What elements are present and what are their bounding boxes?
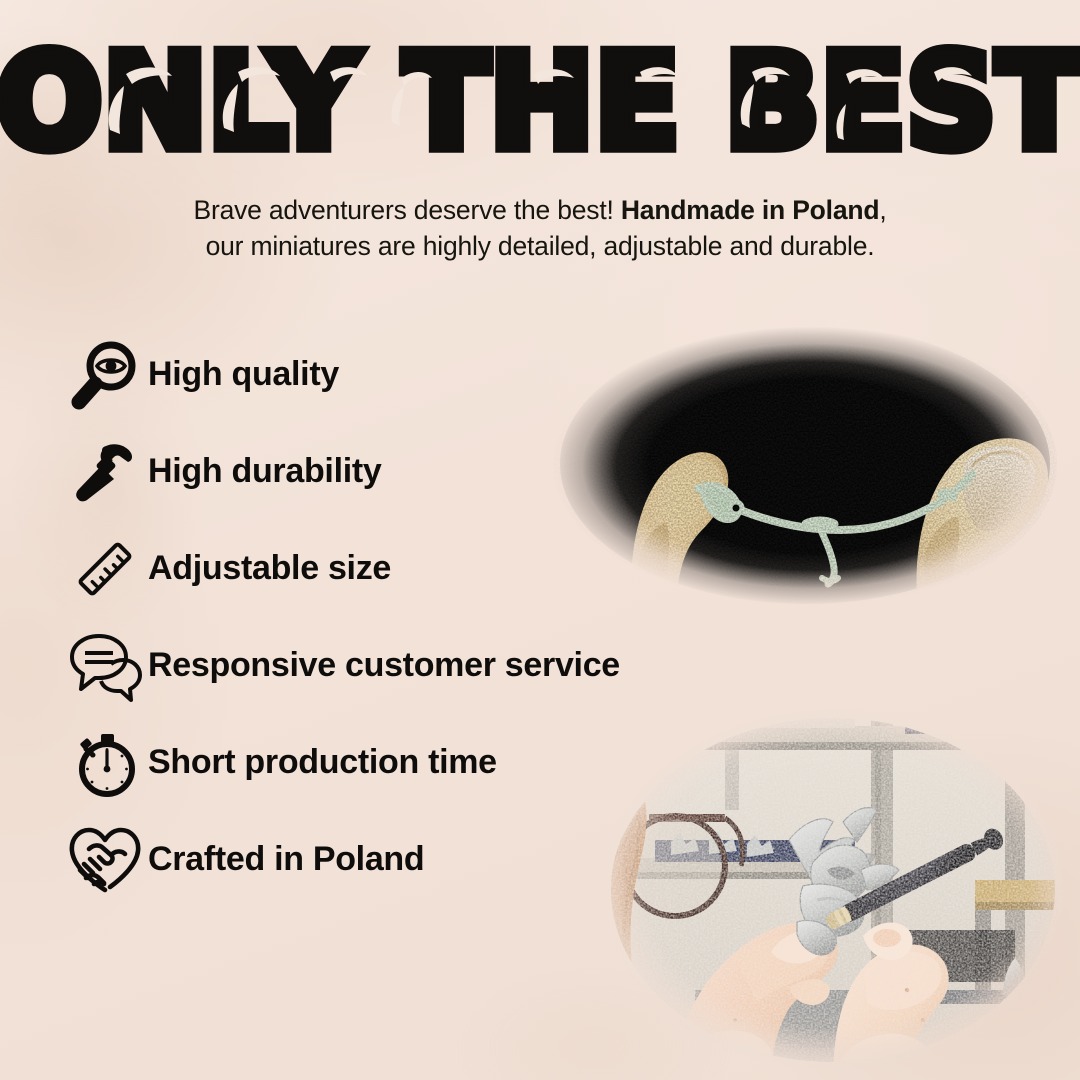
stopwatch-icon	[62, 724, 148, 802]
feature-label: Short production time	[148, 743, 497, 782]
heart-handshake-icon	[62, 821, 148, 899]
subtitle-lead-text: Brave adventurers deserve the best!	[193, 195, 620, 225]
subtitle-trailing-comma: ,	[879, 195, 886, 225]
feature-item-short-production-time: Short production time	[62, 714, 782, 811]
feature-label: Crafted in Poland	[148, 840, 424, 879]
feature-item-crafted-in-poland: Crafted in Poland	[62, 811, 782, 908]
feature-list: High quality High durability	[62, 326, 782, 908]
ruler-icon	[62, 530, 148, 608]
subtitle: Brave adventurers deserve the best! Hand…	[60, 192, 1020, 264]
feature-item-high-quality: High quality	[62, 326, 782, 423]
feature-label: Adjustable size	[148, 549, 391, 588]
subtitle-bold-text: Handmade in Poland	[621, 195, 880, 225]
subtitle-line-2: our miniatures are highly detailed, adju…	[206, 231, 875, 261]
feature-item-adjustable-size: Adjustable size	[62, 520, 782, 617]
feature-label: Responsive customer service	[148, 646, 620, 685]
promo-graphic: ONLY THE BEST Brave adventurers	[0, 0, 1080, 1080]
page-title: ONLY THE BEST	[0, 38, 1080, 168]
feature-label: High quality	[148, 355, 339, 394]
feature-item-high-durability: High durability	[62, 423, 782, 520]
headline-container: ONLY THE BEST	[0, 38, 1080, 154]
magnifier-eye-icon	[62, 336, 148, 414]
feature-label: High durability	[148, 452, 382, 491]
subtitle-line-1: Brave adventurers deserve the best! Hand…	[193, 195, 886, 225]
feature-item-responsive-customer-service: Responsive customer service	[62, 617, 782, 714]
hammer-icon	[62, 433, 148, 511]
chat-bubbles-icon	[62, 627, 148, 705]
